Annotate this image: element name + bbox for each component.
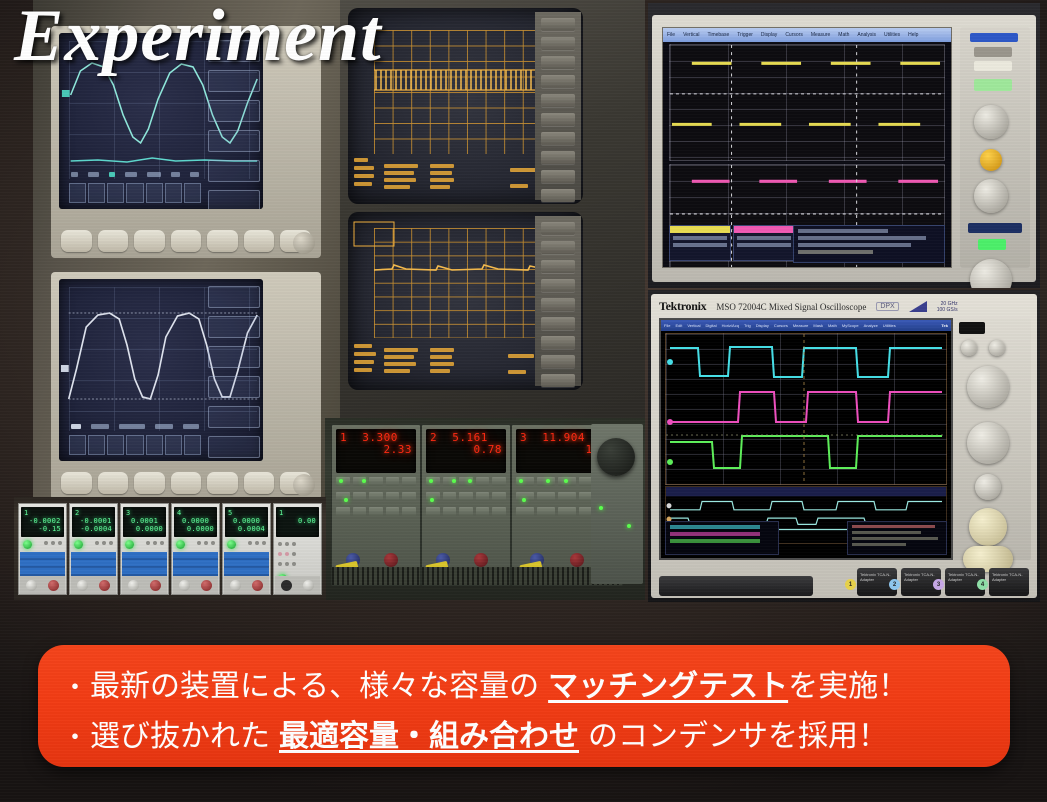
sm-index-1: 1 <box>24 509 29 517</box>
callout-line-1: ・ 最新の装置による、様々な容量の マッチングテスト を実施！ <box>38 661 1010 705</box>
photo-source-meters: 1 -0.0002 -0.15 2 -0.0001 -0.0004 <box>14 497 326 600</box>
sm-index-4: 4 <box>177 509 182 517</box>
menu-item[interactable]: Measure <box>811 32 830 38</box>
sm-top-1: -0.0002 <box>29 517 61 525</box>
module-knobs-1[interactable] <box>20 576 65 594</box>
menu-item[interactable]: Trigger <box>737 32 753 38</box>
psu-display-2: 2 5.161 0.78 <box>426 429 506 473</box>
source-meter-controller: 1 0.00 <box>273 503 322 595</box>
callout-line-2-pre: 選び抜かれた <box>90 711 270 755</box>
sm-index-2: 2 <box>75 509 80 517</box>
controller-knobs[interactable] <box>275 576 320 594</box>
menu-item[interactable]: Utilities <box>883 323 896 328</box>
rate-samplerate: 100 GS/s <box>937 307 958 313</box>
crt-bezel-buttons-top[interactable] <box>535 12 581 200</box>
controller-dots-c <box>278 562 317 566</box>
controller-value: 0.00 <box>279 517 316 525</box>
scope-button-row-sine[interactable] <box>61 230 311 252</box>
menu-item[interactable]: Edit <box>675 323 682 328</box>
controller-index: 1 <box>279 509 284 517</box>
controller-dots-b <box>278 552 317 556</box>
source-meter-display-5: 5 0.0000 0.0004 <box>225 507 268 537</box>
lecroy-front-panel[interactable] <box>960 27 1030 268</box>
indicator-dots-5 <box>248 541 266 545</box>
analog-waveforms <box>666 334 946 484</box>
source-meter-display-4: 4 0.0000 0.0000 <box>174 507 217 537</box>
scope-softkeys-flattop[interactable] <box>208 286 260 461</box>
source-meter-3: 3 0.0001 0.0000 <box>120 503 169 595</box>
callout-line-1-post: を実施！ <box>788 661 908 705</box>
source-meter-1: 1 -0.0002 -0.15 <box>18 503 67 595</box>
indicator-dots-1 <box>44 541 62 545</box>
power-led-1[interactable] <box>23 540 32 549</box>
scope-button-row-flattop[interactable] <box>61 472 311 494</box>
tektronix-logo: Tektronix <box>659 299 706 314</box>
tektronix-graticule <box>665 333 947 485</box>
bullet-1: ・ <box>60 667 90 704</box>
source-meter-display-3: 3 0.0001 0.0000 <box>123 507 166 537</box>
sm-top-3: 0.0001 <box>131 517 158 525</box>
sm-index-3: 3 <box>126 509 131 517</box>
psu-voltage-3: 11.904 <box>542 431 585 444</box>
scope-knob-sine[interactable] <box>293 232 315 254</box>
probe-number-4: 4 <box>977 579 988 590</box>
probe-4[interactable]: 4 Tektronix TCA-N-Adapter <box>989 568 1029 596</box>
callout-line-2: ・ 選び抜かれた 最適容量・組み合わせ のコンデンサを採用！ <box>38 711 1010 755</box>
sm-bottom-5: 0.0004 <box>228 525 265 533</box>
menu-item[interactable]: Vertical <box>683 32 699 38</box>
psu-index-3: 3 <box>520 431 527 444</box>
menu-item[interactable]: File <box>664 323 670 328</box>
menu-item[interactable]: Math <box>838 32 849 38</box>
psu-display-1: 1 3.300 2.33 <box>336 429 416 473</box>
channel-badge-magenta <box>733 225 795 261</box>
menu-item[interactable]: Utilities <box>884 32 900 38</box>
menu-item[interactable]: Analyze <box>864 323 878 328</box>
psu-vents-2 <box>422 567 510 585</box>
photo-power-supplies: 1 3.300 2.33 2 5.161 <box>325 418 645 600</box>
controller-display: 1 0.00 <box>276 507 319 537</box>
module-knobs-4[interactable] <box>173 576 218 594</box>
amber-crt-flat <box>348 212 583 390</box>
menu-item[interactable]: Cursors <box>785 32 803 38</box>
tektronix-probe-row[interactable]: 1 Tektronix TCA-N-Adapter 2 Tektronix TC… <box>659 564 1029 596</box>
menu-item[interactable]: Measure <box>793 323 809 328</box>
source-meter-display-2: 2 -0.0001 -0.0004 <box>72 507 115 537</box>
scope-readout-sine <box>71 170 199 179</box>
menu-item[interactable]: Digital <box>705 323 716 328</box>
tektronix-front-panel[interactable] <box>953 318 1031 560</box>
photo-amber-crts <box>340 0 645 425</box>
lecroy-plot-yellow <box>669 44 945 161</box>
menu-item[interactable]: Help <box>908 32 918 38</box>
status-panel <box>847 521 947 555</box>
probe-number-1: 1 <box>845 579 856 590</box>
power-led-4[interactable] <box>176 540 185 549</box>
menu-item[interactable]: Display <box>756 323 769 328</box>
psu-index-1: 1 <box>340 431 347 444</box>
psu-buttons-1[interactable] <box>336 477 416 543</box>
sm-bottom-1: -0.15 <box>24 525 61 533</box>
menu-item[interactable]: Analysis <box>857 32 876 38</box>
scope-screen-flattop <box>59 279 263 461</box>
psu-master-dial[interactable] <box>597 438 635 476</box>
module-knobs-3[interactable] <box>122 576 167 594</box>
scope-bottom-menu-flattop[interactable] <box>69 435 201 455</box>
crt-bezel-buttons-bottom[interactable] <box>535 216 581 386</box>
menu-item[interactable]: Trig <box>744 323 751 328</box>
bench-oscilloscope-flattop <box>51 272 321 500</box>
indicator-dots-4 <box>197 541 215 545</box>
photo-lecroy: File Vertical Timebase Trigger Display C… <box>648 3 1040 288</box>
sm-bottom-3: 0.0000 <box>126 525 163 533</box>
psu-index-2: 2 <box>430 431 437 444</box>
sm-top-2: -0.0001 <box>80 517 112 525</box>
callout-line-1-pre: 最新の装置による、様々な容量の <box>90 661 539 705</box>
psu-channel-1: 1 3.300 2.33 <box>331 424 421 586</box>
sm-top-5: 0.0000 <box>233 517 260 525</box>
tektronix-rate: 20 GHz 100 GS/s <box>937 301 958 313</box>
waveform-yellow <box>670 45 944 160</box>
tektronix-model: MSO 72004C Mixed Signal Oscilloscope <box>716 302 866 312</box>
probe-label-4: Tektronix TCA-N-Adapter <box>992 572 1029 582</box>
psu-channel-2: 2 5.161 0.78 <box>421 424 511 586</box>
callout-line-2-post: のコンデンサを採用！ <box>588 711 888 755</box>
controller-dots-a <box>278 542 317 546</box>
scope-readout-flattop <box>71 422 199 431</box>
menu-item[interactable]: Horiz/Acq <box>722 323 739 328</box>
callout-line-1-emphasis: マッチングテスト <box>548 661 788 705</box>
tektronix-header: Tektronix MSO 72004C Mixed Signal Oscill… <box>659 298 1029 315</box>
power-led-5[interactable] <box>227 540 236 549</box>
dpx-badge: DPX <box>876 302 898 311</box>
scope-bottom-menu-sine[interactable] <box>69 183 201 203</box>
sm-index-5: 5 <box>228 509 233 517</box>
sm-bottom-2: -0.0004 <box>75 525 112 533</box>
tektronix-menubar[interactable]: File Edit Vertical Digital Horiz/Acq Tri… <box>661 320 951 331</box>
tektronix-chassis: Tektronix MSO 72004C Mixed Signal Oscill… <box>651 294 1037 598</box>
source-meter-5: 5 0.0000 0.0004 <box>222 503 271 595</box>
lecroy-top-label <box>658 4 858 13</box>
lecroy-measurement-panel <box>793 225 945 263</box>
psu-vents-1 <box>332 567 420 585</box>
module-knobs-2[interactable] <box>71 576 116 594</box>
tektronix-screen: File Edit Vertical Digital Horiz/Acq Tri… <box>659 318 953 560</box>
page-title: Experiment <box>14 0 382 79</box>
psu-master-panel <box>591 424 643 584</box>
menu-item[interactable]: Math <box>828 323 837 328</box>
indicator-dots-3 <box>146 541 164 545</box>
callout-box: ・ 最新の装置による、様々な容量の マッチングテスト を実施！ ・ 選び抜かれた… <box>38 645 1010 767</box>
tektronix-footer <box>665 521 947 555</box>
menu-item[interactable]: Vertical <box>687 323 700 328</box>
tektronix-triangle-icon <box>909 301 927 312</box>
menu-item[interactable]: Display <box>761 32 777 38</box>
channel-badge-yellow <box>669 225 731 261</box>
psu-current-1: 2.33 <box>340 444 412 456</box>
menu-item[interactable]: Mask <box>813 323 823 328</box>
slide-root: 1 3.300 2.33 2 5.161 <box>0 0 1047 802</box>
psu-buttons-2[interactable] <box>426 477 506 543</box>
power-led-2[interactable] <box>74 540 83 549</box>
source-meter-display-1: 1 -0.0002 -0.15 <box>21 507 64 537</box>
power-led-3[interactable] <box>125 540 134 549</box>
menu-item[interactable]: MyScope <box>842 323 859 328</box>
callout-line-2-emphasis: 最適容量・組み合わせ <box>279 711 579 755</box>
indicator-dots-2 <box>95 541 113 545</box>
lecroy-menubar[interactable]: File Vertical Timebase Trigger Display C… <box>663 28 951 42</box>
menu-item[interactable]: File <box>667 32 675 38</box>
measurement-panel <box>665 521 779 555</box>
menu-item[interactable]: Cursors <box>774 323 788 328</box>
lecroy-footer <box>669 225 945 263</box>
probe-number-3: 3 <box>933 579 944 590</box>
sm-bottom-4: 0.0000 <box>177 525 214 533</box>
sm-top-4: 0.0000 <box>182 517 209 525</box>
scope-knob-flattop[interactable] <box>293 474 315 496</box>
psu-current-2: 0.78 <box>430 444 502 456</box>
module-knobs-5[interactable] <box>224 576 269 594</box>
source-meter-4: 4 0.0000 0.0000 <box>171 503 220 595</box>
probe-number-2: 2 <box>889 579 900 590</box>
lecroy-screen: File Vertical Timebase Trigger Display C… <box>662 27 952 268</box>
amber-crt-burst <box>348 8 583 204</box>
tek-label: Tek <box>941 323 948 328</box>
photo-tektronix: Tektronix MSO 72004C Mixed Signal Oscill… <box>648 290 1040 602</box>
bullet-2: ・ <box>60 717 90 754</box>
source-meter-2: 2 -0.0001 -0.0004 <box>69 503 118 595</box>
lecroy-chassis: File Vertical Timebase Trigger Display C… <box>652 15 1036 282</box>
menu-item[interactable]: Timebase <box>707 32 729 38</box>
photo-collage: 1 3.300 2.33 2 5.161 <box>0 0 1047 612</box>
